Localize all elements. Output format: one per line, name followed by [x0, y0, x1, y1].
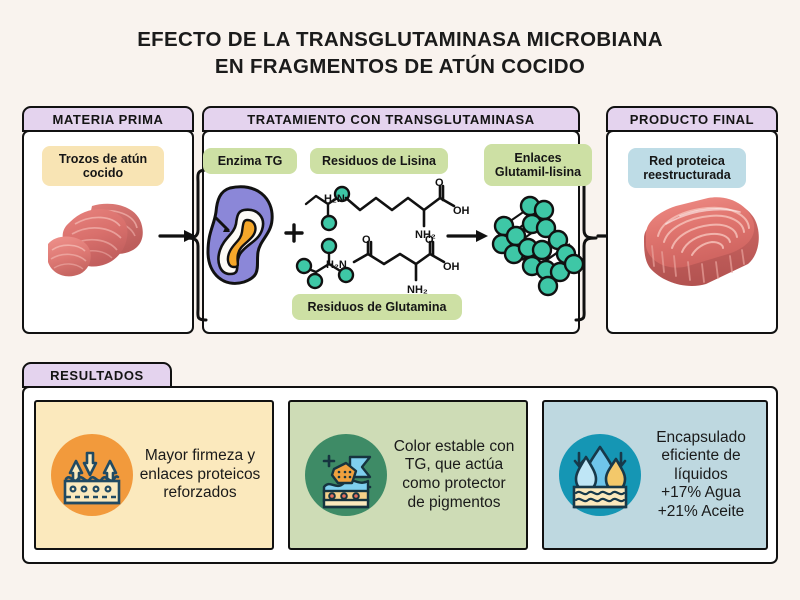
chip-enzima-tg: Enzima TG — [203, 148, 297, 174]
glutamine-carbonyl-label: O — [425, 234, 434, 246]
glutamine-amide-n-label: H₂N — [326, 259, 347, 271]
result-card-color: Color estable con TG, que actúa como pro… — [288, 400, 528, 550]
arrow-reaction-icon — [446, 228, 490, 244]
title-line-2: EN FRAGMENTOS DE ATÚN COCIDO — [0, 53, 800, 80]
tab-producto-final-label: PRODUCTO FINAL — [630, 112, 754, 127]
chip-enlaces-label: Enlaces Glutamil-lisina — [493, 151, 583, 180]
page-title: EFECTO DE LA TRANSGLUTAMINASA MICROBIANA… — [0, 26, 800, 81]
pigment-protection-icon — [300, 429, 392, 521]
result-card-firmeza-text: Mayor firmeza y enlaces proteicos reforz… — [138, 447, 262, 503]
firmness-arrows-icon — [46, 429, 138, 521]
chip-residuos-lisina-label: Residuos de Lisina — [322, 154, 436, 169]
glutamine-molecule-diagram: H₂N O NH₂ O OH — [322, 240, 472, 302]
chip-red-proteica-label: Red proteica reestructurada — [637, 154, 737, 183]
tab-materia-prima-label: MATERIA PRIMA — [52, 112, 163, 127]
lysine-carbonyl-label: O — [435, 177, 444, 189]
cooked-tuna-chunks-image — [42, 192, 160, 284]
chip-residuos-glutamina: Residuos de Glutamina — [292, 294, 462, 320]
chip-trozos-atun: Trozos de atún cocido — [42, 146, 164, 186]
chip-enlaces-glutamil-lisina: Enlaces Glutamil-lisina — [484, 144, 592, 186]
encapsulado-line-3: líquidos — [646, 466, 756, 485]
result-card-firmeza: Mayor firmeza y enlaces proteicos reforz… — [34, 400, 274, 550]
tab-tratamiento: TRATAMIENTO CON TRANSGLUTAMINASA — [202, 106, 580, 132]
chip-residuos-lisina: Residuos de Lisina — [310, 148, 448, 174]
lysine-amine-label: H₂N — [324, 193, 345, 205]
encapsulado-line-5: +21% Aceite — [646, 503, 756, 522]
tab-producto-final: PRODUCTO FINAL — [606, 106, 778, 132]
restructured-tuna-steak-image — [636, 194, 766, 290]
title-line-1: EFECTO DE LA TRANSGLUTAMINASA MICROBIANA — [0, 26, 800, 53]
chip-trozos-atun-label: Trozos de atún cocido — [51, 152, 155, 181]
glutamine-hydroxyl-label: OH — [443, 261, 460, 273]
liquid-encapsulation-droplets-icon — [554, 429, 646, 521]
chip-red-proteica: Red proteica reestructurada — [628, 148, 746, 188]
chip-enzima-tg-label: Enzima TG — [218, 154, 283, 169]
lysine-hydroxyl-label: OH — [453, 205, 470, 217]
tab-materia-prima: MATERIA PRIMA — [22, 106, 194, 132]
result-card-color-text: Color estable con TG, que actúa como pro… — [392, 438, 516, 512]
bracket-right-icon — [572, 168, 604, 324]
chip-residuos-glutamina-label: Residuos de Glutamina — [308, 300, 447, 315]
encapsulado-line-4: +17% Agua — [646, 484, 756, 503]
encapsulado-line-1: Encapsulado — [646, 429, 756, 448]
transglutaminase-enzyme-icon — [200, 182, 286, 288]
tab-resultados-label: RESULTADOS — [50, 368, 144, 383]
result-card-encapsulado-text: Encapsulado eficiente de líquidos +17% A… — [646, 429, 756, 522]
glutamine-amide-o-label: O — [362, 234, 371, 246]
tab-tratamiento-label: TRATAMIENTO CON TRANSGLUTAMINASA — [247, 112, 535, 127]
encapsulado-line-2: eficiente de — [646, 447, 756, 466]
tab-resultados: RESULTADOS — [22, 362, 172, 388]
result-card-encapsulado: Encapsulado eficiente de líquidos +17% A… — [542, 400, 768, 550]
